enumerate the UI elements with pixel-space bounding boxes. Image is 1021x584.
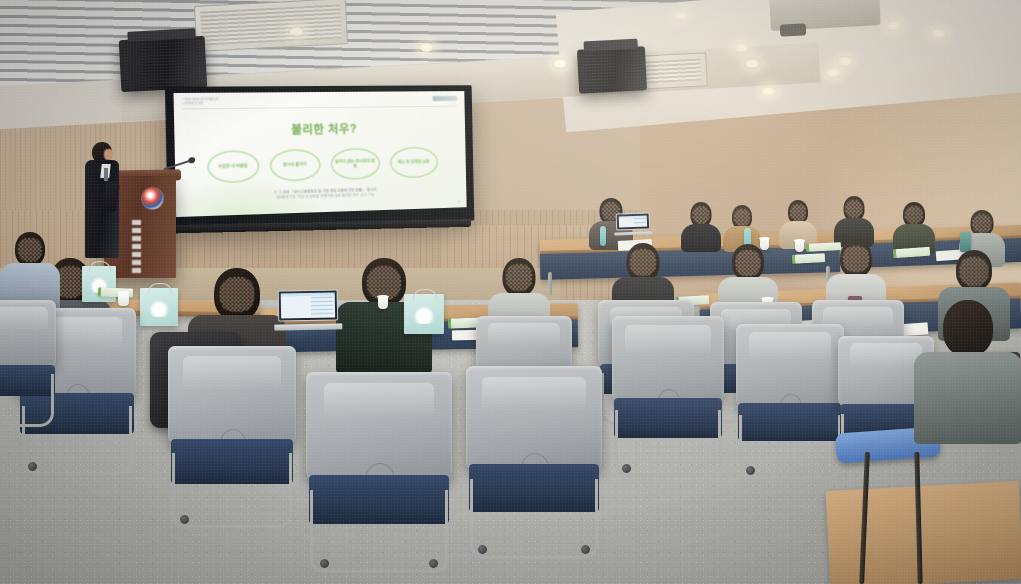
chair-frame xyxy=(310,490,447,574)
emblem-icon xyxy=(142,188,163,209)
attendee-face-blurred xyxy=(220,277,255,312)
attendee-face-blurred xyxy=(905,206,923,224)
slide-bubble: 해고 등 징계권 남용 xyxy=(390,146,438,177)
chair xyxy=(306,372,452,562)
chair-caster xyxy=(478,545,487,554)
paper-cup xyxy=(795,240,804,252)
ceiling-light-icon xyxy=(744,58,761,69)
slide-breadcrumbs: 직장내 성희롱·성폭력 예방교육 관련법령 및 처벌 xyxy=(182,98,219,107)
slide-title: 불리한 처우? xyxy=(183,119,458,139)
chair-frame xyxy=(172,453,292,529)
speaker-grill-icon xyxy=(581,50,643,89)
attendee xyxy=(914,300,1021,440)
chair-back xyxy=(0,300,56,370)
laptop xyxy=(278,289,339,330)
chair-caster xyxy=(28,462,37,471)
chair xyxy=(0,300,56,420)
chair xyxy=(612,316,724,468)
slide-breadcrumb-2: 관련법령 및 처벌 xyxy=(182,102,219,106)
wall-speaker xyxy=(119,36,208,92)
slide-bubble: 원하지 않는 부서로의 발령 xyxy=(330,147,379,179)
wall-speaker xyxy=(577,46,647,93)
attendee-face-blurred xyxy=(843,246,869,272)
gift-bag-artwork xyxy=(147,299,171,317)
attendee xyxy=(0,232,60,310)
screen-surface: 직장내 성희롱·성폭력 예방교육 관련법령 및 처벌 불리한 처우? 사업장 내… xyxy=(173,91,466,217)
ceiling-light-icon xyxy=(552,58,569,69)
ceiling-light-icon xyxy=(418,42,435,53)
chair-caster xyxy=(429,559,438,568)
presentation-slide: 직장내 성희롱·성폭력 예방교육 관련법령 및 처벌 불리한 처우? 사업장 내… xyxy=(173,91,466,217)
attendee-face-blurred xyxy=(846,200,863,218)
paper-cup xyxy=(378,296,388,309)
ceiling-light-icon xyxy=(930,28,947,39)
attendee-face-blurred xyxy=(630,249,656,276)
chair xyxy=(466,366,602,548)
gift-bag xyxy=(140,288,178,326)
podium-banner-text xyxy=(132,220,141,274)
chair-caster xyxy=(622,464,631,473)
attendee xyxy=(680,202,722,250)
laptop-base xyxy=(275,324,342,331)
chair-caster xyxy=(581,545,590,554)
speaker-grill-icon xyxy=(123,40,203,88)
ceiling-light-icon xyxy=(760,86,777,97)
ceiling-light-icon xyxy=(288,26,305,37)
ceiling-light-icon xyxy=(825,67,842,78)
presenter-tie xyxy=(104,168,108,181)
laptop-screen-content xyxy=(281,293,335,319)
ceiling-light-icon xyxy=(837,56,854,67)
paper-cup xyxy=(118,292,129,306)
attendee-face-blurred xyxy=(790,204,806,221)
slide-header: 직장내 성희롱·성폭력 예방교육 관련법령 및 처벌 xyxy=(182,96,457,106)
chair-caster xyxy=(746,466,755,475)
slide-logo xyxy=(433,96,457,101)
attendee-torso xyxy=(681,224,721,252)
ceiling-light-icon xyxy=(672,10,689,21)
attendee-face-blurred xyxy=(734,209,750,226)
water-bottle xyxy=(600,226,606,246)
chair xyxy=(168,346,296,518)
gift-bag-artwork xyxy=(411,305,437,324)
ceiling-light-icon xyxy=(733,42,750,53)
chair-caster xyxy=(180,515,189,524)
attendee-face-blurred xyxy=(736,250,761,276)
projector-lens-icon xyxy=(780,23,807,36)
projection-screen: 직장내 성희롱·성폭력 예방교육 관련법령 및 처벌 불리한 처우? 사업장 내… xyxy=(165,85,474,232)
slide-divider xyxy=(182,106,457,109)
laptop-screen xyxy=(278,289,339,321)
attendee-face-blurred xyxy=(693,206,710,224)
slide-page-number: 16 xyxy=(457,200,460,204)
chair-caster xyxy=(320,559,329,568)
attendee-face-blurred xyxy=(973,214,992,233)
seminar-room-photo: 직장내 성희롱·성폭력 예방교육 관련법령 및 처벌 불리한 처우? 사업장 내… xyxy=(0,0,1021,584)
attendee xyxy=(833,196,875,246)
speaker-bracket xyxy=(583,39,638,52)
laptop xyxy=(616,212,651,235)
booklet xyxy=(792,253,825,264)
chair-frame xyxy=(0,374,54,427)
presenter-face-blurred xyxy=(104,149,113,160)
ac-unit-icon xyxy=(194,0,348,52)
ceiling-light-icon xyxy=(885,20,902,31)
attendee-head xyxy=(943,300,993,356)
chair-frame xyxy=(470,479,598,559)
laptop-screen xyxy=(616,212,651,230)
presenter xyxy=(84,142,120,258)
attendee-face-blurred xyxy=(506,264,532,291)
chair-frame xyxy=(615,410,720,477)
tumbler xyxy=(960,232,971,252)
slide-corner-glow xyxy=(173,176,326,217)
attendee-face-blurred xyxy=(18,238,42,262)
gift-bag xyxy=(404,294,444,334)
laptop-screen-content xyxy=(619,216,647,228)
attendee-torso xyxy=(914,352,1021,444)
chair xyxy=(736,324,844,470)
attendee-face-blurred xyxy=(960,257,989,286)
table-foreground-right xyxy=(826,481,1021,584)
